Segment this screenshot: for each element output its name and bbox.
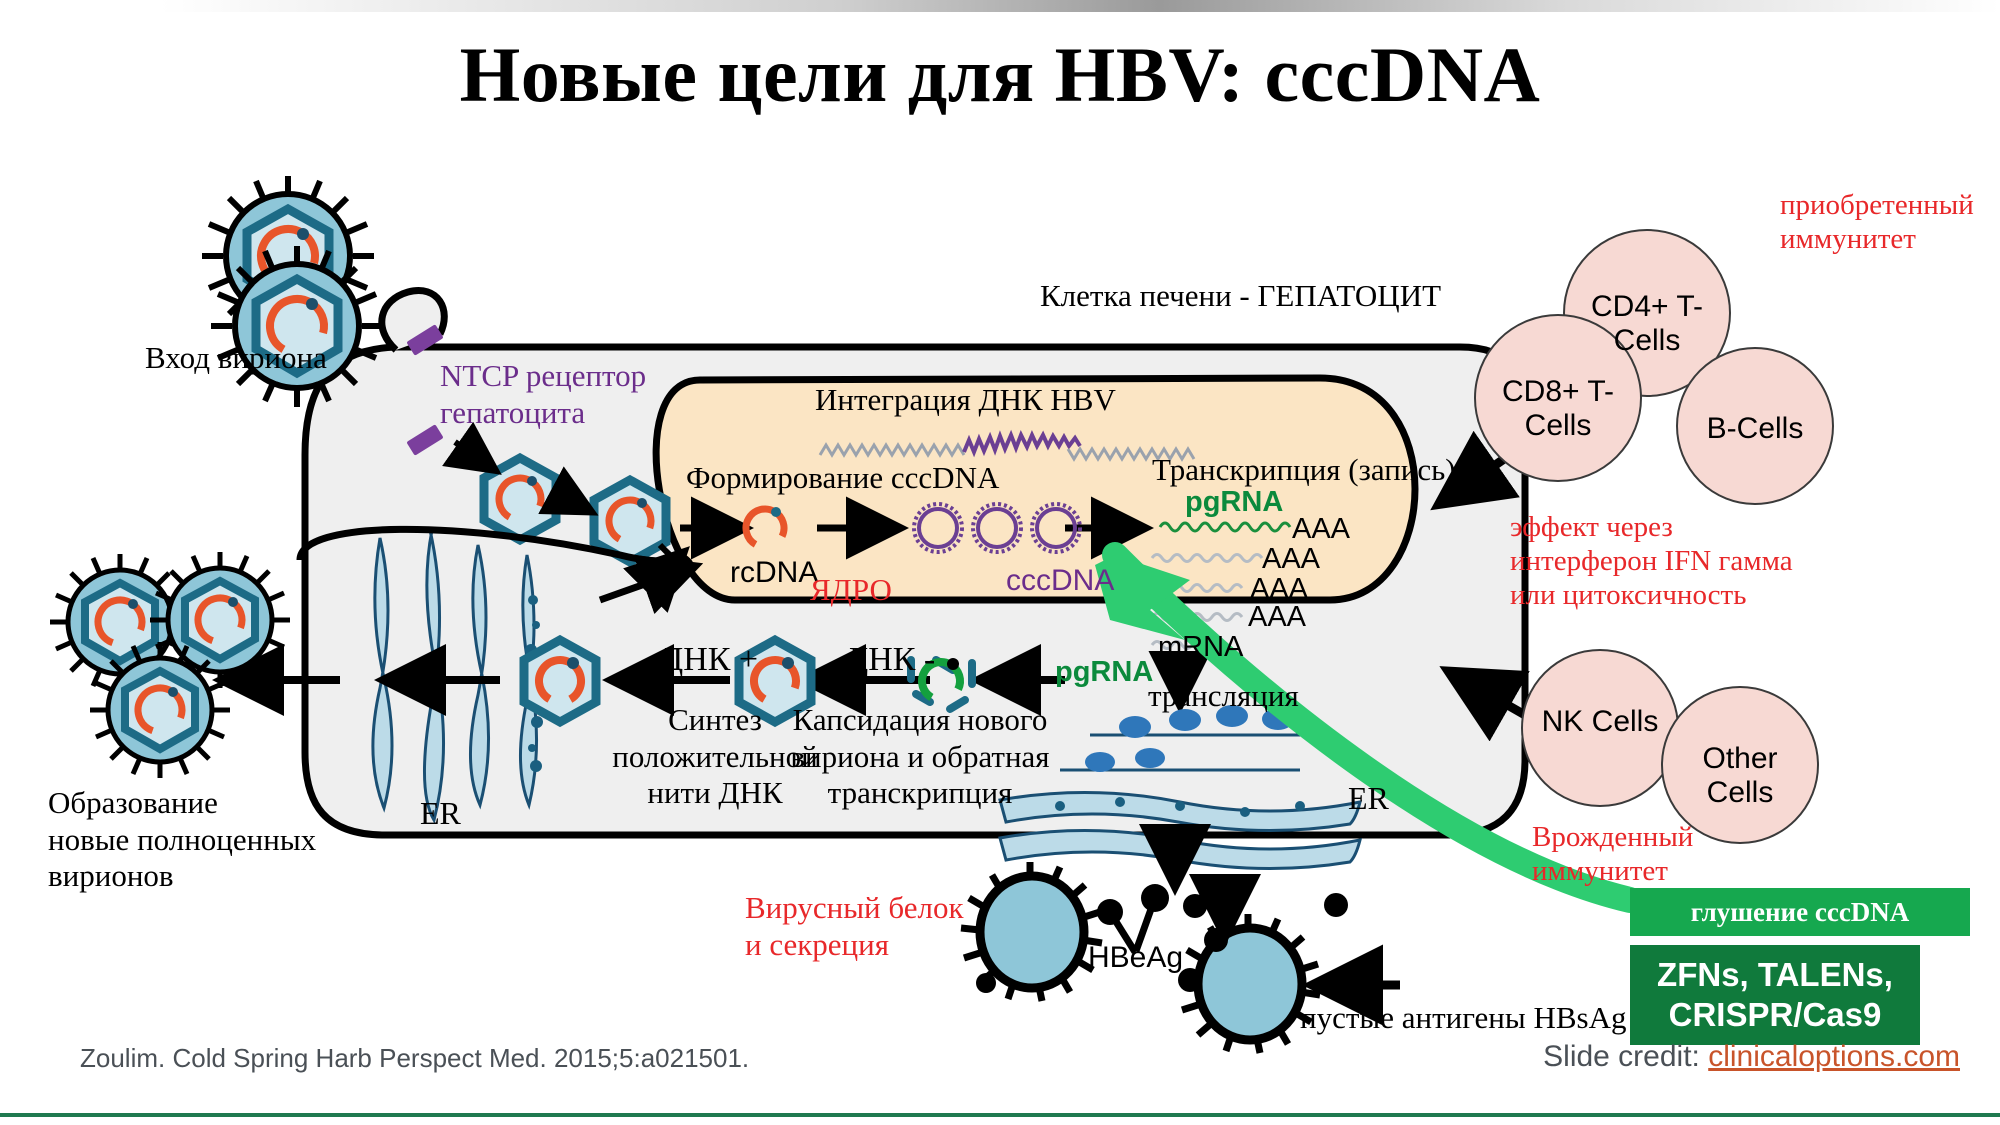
new-virions-label: Образование новые полноценных вирионов	[48, 785, 316, 895]
slide-credit: Slide credit: clinicaloptions.com	[1543, 1040, 1960, 1074]
ntcp-receptor-label: NTCP рецептор гепатоцита	[440, 358, 646, 431]
innate-immunity-label: Врожденный иммунитет	[1532, 820, 1693, 888]
pgrna-cytoplasm-label: pgRNA	[1055, 655, 1153, 689]
capsid-icon-1	[484, 458, 556, 540]
immune-label-cd8: CD8+ T-Cells	[1478, 375, 1638, 442]
hbeag-label: HBeAg	[1088, 940, 1183, 975]
dna-plus-label: ДНК +	[660, 640, 758, 680]
dna-minus-label: ДНК -	[845, 640, 935, 680]
virion-icon-postsynthesis	[524, 640, 596, 722]
hepatocyte-title: Клетка печени - ГЕПАТОЦИТ	[1040, 278, 1441, 315]
adaptive-immunity-label: приобретенный иммунитет	[1780, 188, 1974, 256]
cccdna-formation-label: Формирование cccDNA	[686, 460, 999, 497]
immune-label-nk: NK Cells	[1525, 705, 1675, 739]
rcdna-label: rcDNA	[730, 555, 818, 590]
cccdna-silencing-box: глушение cccDNA	[1630, 888, 1970, 936]
hbsag-particle-1	[961, 862, 1102, 1001]
immune-label-bcells: B-Cells	[1680, 412, 1830, 446]
translation-label: трансляция	[1148, 678, 1299, 715]
encapsidation-label: Капсидация нового вириона и обратная тра…	[775, 702, 1065, 812]
slide-root: Новые цели для HBV: cccDNA	[0, 0, 2000, 1125]
ifn-effect-label: эффект через интерферон IFN гамма или ци…	[1510, 510, 1793, 613]
immune-label-cd4: CD4+ T-Cells	[1567, 290, 1727, 357]
bottom-accent-rule	[0, 1113, 2000, 1117]
hbsag-label: пустые антигены HBsAg	[1300, 1000, 1626, 1037]
citation-text: Zoulim. Cold Spring Harb Perspect Med. 2…	[80, 1043, 749, 1074]
viral-protein-label: Вирусный белок и секреция	[745, 890, 964, 963]
released-virion-3	[90, 642, 230, 778]
slide-credit-prefix: Slide credit:	[1543, 1040, 1708, 1073]
integration-label: Интеграция ДНК HBV	[815, 382, 1116, 419]
virion-entry-label: Вход вириона	[145, 340, 327, 377]
transcription-label: Транскрипция (запись)	[1152, 452, 1456, 489]
gene-editing-tools-box: ZFNs, TALENs, CRISPR/Cas9	[1630, 945, 1920, 1045]
bottom-white-rule	[0, 1120, 2000, 1125]
aaa-label-4: AAA	[1248, 600, 1306, 634]
clinicaloptions-link[interactable]: clinicaloptions.com	[1708, 1040, 1960, 1073]
er-right-label: ER	[1348, 780, 1389, 818]
mrna-label: mRNA	[1158, 630, 1243, 664]
immune-label-other: Other Cells	[1665, 742, 1815, 809]
nucleus-label: ЯДРО	[810, 572, 892, 609]
cccdna-label: cccDNA	[1006, 563, 1114, 598]
er-left-label: ER	[420, 795, 461, 833]
pgrna-label: pgRNA	[1185, 485, 1283, 519]
